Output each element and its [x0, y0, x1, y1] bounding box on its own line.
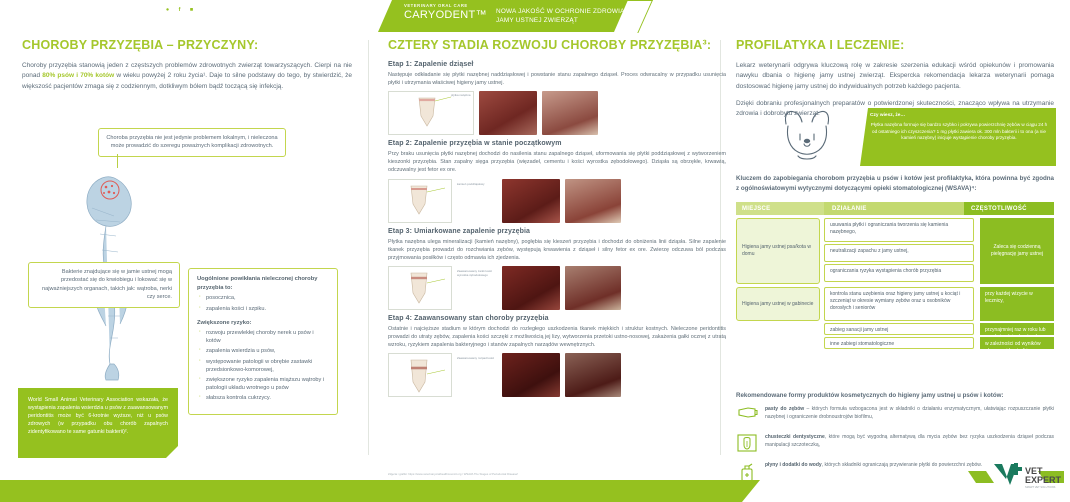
rec-item-3-bold: płyny i dodatki do wody: [765, 462, 822, 468]
row-1-frequency-1: Zaleca się codzienną pielęgnację jamy us…: [980, 218, 1054, 284]
left-intro-highlight: 80% psów i 70% kotów: [42, 72, 114, 79]
right-intro-1: Lekarz weterynarii odgrywa kluczową rolę…: [736, 61, 1054, 92]
stage-1-photo-2: [542, 91, 598, 135]
row-2-frequency-2: przynajmniej raz w roku lub w zależności…: [980, 323, 1054, 335]
stage-4-text: Ostatnie i najcięższe stadium w którym d…: [388, 325, 726, 349]
stage-4-diagram-caption: Zaawansowany rozpad kości: [457, 353, 497, 361]
facebook-icon[interactable]: f: [175, 6, 184, 15]
vetexpert-logo: VET EXPERT SMART VET SOLUTIONS: [968, 459, 1064, 493]
rec-item-1-bold: pasty do zębów: [765, 406, 804, 412]
toothpaste-tube-icon: [736, 405, 758, 427]
row-2-place: Higiena jamy ustnej w gabinecie: [736, 287, 820, 321]
brand-tagline: VETERINARY ORAL CARE: [404, 4, 487, 8]
stage-2-photo-1: [502, 179, 560, 223]
footer-www-post: .EU: [91, 6, 103, 13]
list-item: zwiększone ryzyko zapalenia miąższu wątr…: [206, 377, 329, 393]
stage-2-diagram-caption: kamień poddziąsłowy: [457, 179, 497, 187]
stage-3-images: Zaawansowany zanik kości wyrostka zębodo…: [388, 266, 726, 310]
rec-item-2-bold: chusteczki dentystyczne: [765, 434, 825, 440]
connector-top: [117, 154, 118, 168]
complications-title: Uogólnione powikłania nieleczonej chorob…: [197, 275, 329, 292]
list-item: posocznica,: [206, 295, 329, 303]
row-1-place: Higiena jamy ustnej psa/kota w domu: [736, 218, 820, 284]
complications-list: posocznica, zapalenia kości i szpiku.: [197, 295, 329, 313]
table-header-row: MIEJSCE DZIAŁANIE CZĘSTOTLIWOŚĆ: [736, 202, 1054, 215]
table-header-place: MIEJSCE: [736, 202, 824, 215]
stage-1-heading: Etap 1: Zapalenie dziąseł: [388, 61, 726, 68]
rec-item-3-desc: , których składniki ograniczają przywier…: [822, 462, 982, 468]
brand-name: CARYODENT™: [404, 10, 487, 21]
rec-item-3-text: płyny i dodatki do wody, których składni…: [765, 461, 982, 470]
stage-4-diagram: [388, 353, 452, 397]
right-section-title: PROFILATYKA I LECZENIE:: [736, 38, 1054, 52]
logo-expert-text: EXPERT: [1025, 475, 1062, 485]
stage-3-heading: Etap 3: Umiarkowane zapalenie przyzębia: [388, 228, 726, 235]
table-header-action: DZIAŁANIE: [824, 202, 964, 215]
middle-section-title: CZTERY STADIA ROZWOJU CHOROBY PRZYZĘBIA³…: [388, 38, 726, 52]
stage-4: Etap 4: Zaawansowany stan choroby przyzę…: [388, 315, 726, 397]
left-intro-paragraph: Choroby przyzębia stanowią jeden z częst…: [22, 61, 352, 92]
dog-head-icon: [770, 104, 844, 166]
stage-3-diagram: [388, 266, 452, 310]
brand-lockup: VETERINARY ORAL CARE CARYODENT™: [404, 4, 487, 21]
footer-follow-label: POLUB NAS NA: [111, 6, 163, 13]
increased-risk-title: Zwiększone ryzyko:: [197, 319, 329, 328]
row-1-action-1: usuwania płytki i ograniczania tworzenia…: [824, 218, 974, 242]
youtube-icon[interactable]: ■: [187, 6, 196, 15]
stage-2-photo-2: [565, 179, 621, 223]
brand-banner: VETERINARY ORAL CARE CARYODENT™ NOWA JAK…: [378, 0, 628, 32]
dental-wipe-icon: [736, 433, 758, 455]
callout-systemic-problem: Choroba przyzębia nie jest jedynie probl…: [98, 128, 286, 157]
stage-1-diagram-caption: płytka nazębna: [451, 94, 473, 98]
list-item: pasty do zębów – których formuła wzbogac…: [736, 405, 1054, 427]
prevention-table: MIEJSCE DZIAŁANIE CZĘSTOTLIWOŚĆ Higiena …: [736, 202, 1054, 349]
stage-2-text: Przy braku usunięcia płytki nazębnej doc…: [388, 150, 726, 174]
middle-footnote: Zdjęcia i grafiki: https://www.veterinar…: [388, 473, 718, 477]
table-row: Higiena jamy ustnej psa/kota w domu usuw…: [736, 218, 1054, 284]
row-2-frequencies: przy każdej wizycie w lecznicy, przynajm…: [980, 287, 1054, 349]
row-2-actions: kontrola stanu uzębienia oraz higieny ja…: [824, 287, 974, 349]
stage-3: Etap 3: Umiarkowane zapalenie przyzębia …: [388, 228, 726, 310]
row-2-frequency-1: przy każdej wizycie w lecznicy,: [980, 287, 1054, 321]
left-column: CHOROBY PRZYZĘBIA – PRZYCZYNY: Choroby p…: [22, 38, 352, 99]
table-row: Higiena jamy ustnej w gabinecie kontrola…: [736, 287, 1054, 349]
left-section-title: CHOROBY PRZYZĘBIA – PRZYCZYNY:: [22, 38, 352, 52]
row-2-action-3: inne zabiegi stomatologiczne: [824, 337, 974, 349]
dog-head-outline-svg: [770, 104, 844, 166]
rec-item-1-text: pasty do zębów – których formuła wzbogac…: [765, 405, 1054, 421]
footer-www-pre: WWW.: [28, 6, 49, 13]
increased-risk-list: rozwoju przewlekłej choroby nerek u psów…: [197, 330, 329, 403]
vetexpert-logo-svg: VET EXPERT SMART VET SOLUTIONS: [968, 459, 1064, 493]
stage-4-heading: Etap 4: Zaawansowany stan choroby przyzę…: [388, 315, 726, 322]
footer-website[interactable]: WWW.VETEXPERT.EU POLUB NAS NA: [28, 6, 163, 13]
stage-4-images: Zaawansowany rozpad kości: [388, 353, 726, 397]
did-you-know-title: Czy wiesz, że…: [870, 113, 1048, 120]
social-links: ● f ■: [163, 6, 196, 15]
row-1-actions: usuwania płytki i ograniczania tworzenia…: [824, 218, 974, 284]
row-1-frequencies: Zaleca się codzienną pielęgnację jamy us…: [980, 218, 1054, 284]
stage-1-images: płytka nazębna: [388, 91, 726, 135]
callout-complications: Uogólnione powikłania nieleczonej chorob…: [188, 268, 338, 415]
stage-4-photo-1: [502, 353, 560, 397]
did-you-know-text: Płytka nazębna formuje się bardzo szybko…: [871, 122, 1047, 140]
stage-2-heading: Etap 2: Zapalenie przyzębia w stanie poc…: [388, 140, 726, 147]
infographic-poster: VETERINARY ORAL CARE CARYODENT™ NOWA JAK…: [0, 0, 1070, 502]
wsava-guidelines-text: Kluczem do zapobiegania chorobom przyzęb…: [736, 174, 1054, 193]
stage-1-photo-1: [479, 91, 537, 135]
list-item: chusteczki dentystyczne, które mogą być …: [736, 433, 1054, 455]
list-item: słabsza kontrola cukrzycy.: [206, 395, 329, 403]
row-2-action-1: kontrola stanu uzębienia oraz higieny ja…: [824, 287, 974, 321]
row-2-action-2: zabieg sanacji jamy ustnej: [824, 323, 974, 335]
list-item: występowanie patologii w obrębie zastawk…: [206, 359, 329, 375]
rec-item-2-text: chusteczki dentystyczne, które mogą być …: [765, 433, 1054, 449]
list-item: zapalenia kości i szpiku.: [206, 306, 329, 314]
stage-2-images: kamień poddziąsłowy: [388, 179, 726, 223]
stage-3-diagram-caption: Zaawansowany zanik kości wyrostka zębodo…: [457, 266, 497, 277]
row-1-action-3: ograniczania ryzyka wystąpienia chorób p…: [824, 264, 974, 282]
middle-column: CZTERY STADIA ROZWOJU CHOROBY PRZYZĘBIA³…: [388, 38, 726, 402]
list-item: rozwoju przewlekłej choroby nerek u psów…: [206, 330, 329, 346]
stage-4-photo-2: [565, 353, 621, 397]
recommended-products-title: Rekomendowane formy produktów kosmetyczn…: [736, 392, 1054, 399]
callout-bacteria-bloodstream: Bakterie znajdujące się w jamie ustnej m…: [28, 262, 180, 308]
stage-3-text: Płytka nazębna ulega mineralizacji (kami…: [388, 238, 726, 262]
stage-3-photo-1: [502, 266, 560, 310]
stage-1-text: Następuje odkładanie się płytki nazębnej…: [388, 71, 726, 87]
instagram-icon[interactable]: ●: [163, 6, 172, 15]
stage-2: Etap 2: Zapalenie przyzębia w stanie poc…: [388, 140, 726, 222]
footer-www-bold: VETEXPERT: [49, 6, 91, 13]
logo-tagline-text: SMART VET SOLUTIONS: [1025, 485, 1056, 489]
list-item: zapalenia wsierdzia u psów,: [206, 348, 329, 356]
row-1-action-2: neutralizacji zapachu z jamy ustnej,: [824, 244, 974, 262]
did-you-know-box: Czy wiesz, że… Płytka nazębna formuje si…: [860, 108, 1056, 166]
wsava-endocarditis-note: World Small Animal Veterinary Associatio…: [18, 388, 178, 458]
row-2-frequency-3: w zależności od wyników okresowej kontro…: [980, 337, 1054, 349]
stage-1-diagram: płytka nazębna: [388, 91, 474, 135]
rec-item-1-desc: – których formuła wzbogacona jest w skła…: [765, 406, 1054, 420]
footer-bar: [0, 480, 760, 502]
stage-3-photo-2: [565, 266, 621, 310]
stage-2-diagram: [388, 179, 452, 223]
stage-1: Etap 1: Zapalenie dziąseł Następuje odkł…: [388, 61, 726, 135]
water-additive-icon: [736, 461, 758, 483]
table-header-frequency: CZĘSTOTLIWOŚĆ: [964, 202, 1054, 215]
column-divider-1: [368, 40, 369, 455]
